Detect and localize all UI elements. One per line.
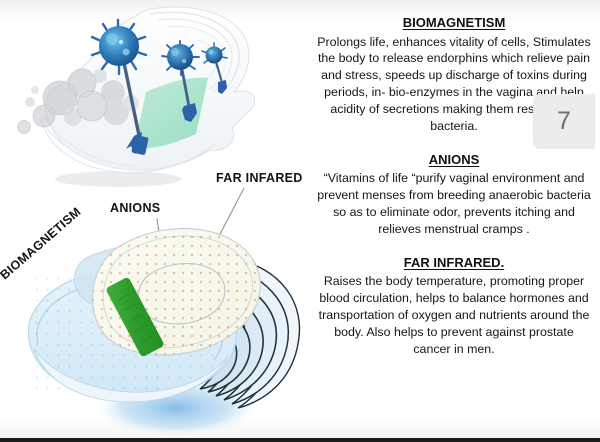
page-number-label: 7 xyxy=(557,109,571,134)
diagram-label-anions: ANIONS xyxy=(110,201,160,215)
bottom-pad-group xyxy=(28,228,299,438)
infographic-page: FAR INFARED ANIONS BIOMAGNETISM BIOMAGNE… xyxy=(0,0,600,442)
section-anions: ANIONS “Vitamins of life “purify vaginal… xyxy=(314,151,594,238)
top-pad-group xyxy=(18,7,255,187)
section-heading-far-infrared: FAR INFRARED. xyxy=(314,254,594,272)
illustration-column: FAR INFARED ANIONS BIOMAGNETISM xyxy=(0,0,308,442)
section-far-infrared: FAR INFRARED. Raises the body temperatur… xyxy=(314,254,594,358)
section-body-anions: “Vitamins of life “purify vaginal enviro… xyxy=(314,170,594,237)
sanitary-pad-illustration-svg xyxy=(0,0,308,442)
section-body-far-infrared: Raises the body temperature, promoting p… xyxy=(314,273,594,357)
text-column: BIOMAGNETISM Prolongs life, enhances vit… xyxy=(308,0,600,442)
diagram-label-far-infared: FAR INFARED xyxy=(216,171,303,185)
section-heading-biomagnetism: BIOMAGNETISM xyxy=(314,14,594,32)
page-number-badge: 7 xyxy=(533,94,595,149)
section-heading-anions: ANIONS xyxy=(314,151,594,169)
